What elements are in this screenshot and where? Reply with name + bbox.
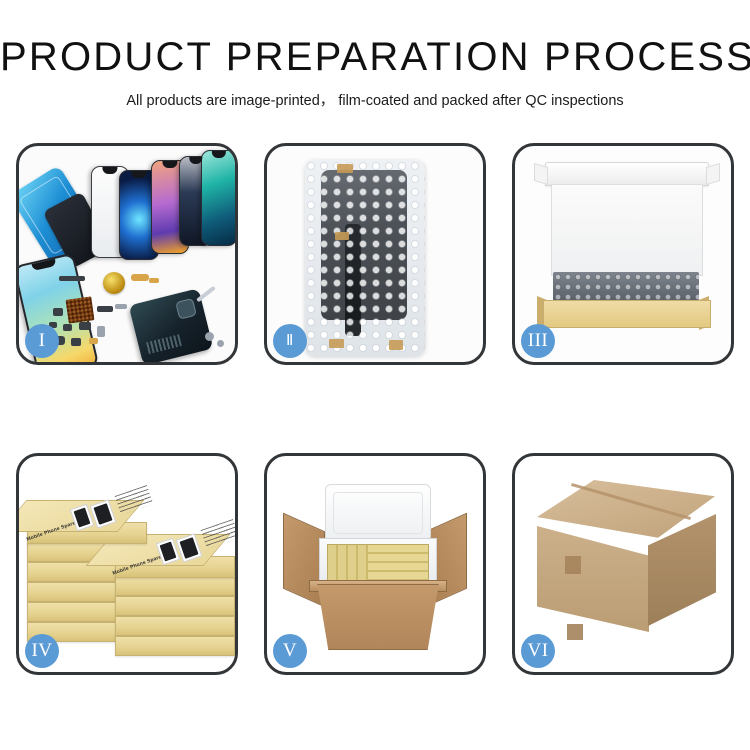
retail-box-r4 [115, 636, 235, 656]
step-badge-1: I [25, 324, 59, 358]
carton-front-panel [309, 584, 447, 650]
part-block-6 [71, 338, 81, 346]
carton-left-face [537, 526, 649, 632]
tape-piece-bottom-left [329, 339, 344, 348]
part-screw-2 [217, 340, 224, 347]
part-strip-1 [59, 276, 85, 281]
part-block-1 [53, 308, 63, 316]
part-block-2 [97, 306, 113, 312]
part-screw-1 [205, 332, 214, 341]
wrapped-screen-icon [321, 170, 407, 320]
inner-box-front-panel [543, 300, 711, 328]
tape-piece-bottom-right [389, 340, 403, 350]
retail-boxes-inside-icon [327, 544, 429, 584]
chip-grid-icon [65, 296, 94, 323]
process-steps-grid: I Ⅱ [16, 143, 734, 675]
tape-piece-top [337, 164, 353, 173]
part-flex-cable-2 [149, 278, 159, 283]
retail-box-r3 [115, 616, 235, 636]
retail-box-r2 [115, 596, 235, 616]
bubble-wrap-bag-icon [305, 160, 425, 356]
wrapped-flex-cable-icon [345, 224, 361, 336]
step-badge-6: VI [521, 634, 555, 668]
step-panel-4: Mobile Phone Spare Parts Mobile Phone Sp… [16, 453, 238, 675]
retail-box-stack: Mobile Phone Spare Parts Mobile Phone Sp… [27, 484, 233, 664]
step-badge-4: IV [25, 634, 59, 668]
product-preparation-infographic: PRODUCT PREPARATION PROCESS All products… [0, 0, 750, 750]
part-sim-tray [97, 326, 105, 337]
tape-piece-middle [335, 232, 349, 240]
step-panel-6: VI [512, 453, 734, 675]
carton-tape-upper [565, 556, 581, 574]
part-bracket-1 [115, 304, 127, 309]
inner-box-lid-icon [545, 162, 709, 186]
step-badge-5: V [273, 634, 307, 668]
phone-display-teal-icon [201, 150, 235, 246]
part-connector-1 [89, 338, 98, 344]
retail-box-text-lines-2 [201, 519, 235, 549]
camera-module-icon [103, 272, 125, 294]
part-block-5 [79, 322, 91, 330]
foam-box-lid-icon [325, 484, 431, 542]
bubble-wrapped-contents-icon [553, 272, 699, 302]
step-panel-3: III [512, 143, 734, 365]
page-title: PRODUCT PREPARATION PROCESS [0, 34, 750, 80]
retail-box-text-lines-1 [115, 485, 154, 515]
part-block-4 [63, 324, 72, 331]
header: PRODUCT PREPARATION PROCESS All products… [0, 34, 750, 111]
step-panel-1: I [16, 143, 238, 365]
retail-box-r1 [115, 576, 235, 596]
step-panel-2: Ⅱ [264, 143, 486, 365]
step-badge-3: III [521, 324, 555, 358]
step-panel-5: V [264, 453, 486, 675]
step-badge-2: Ⅱ [273, 324, 307, 358]
inner-box-back-wall [551, 184, 703, 276]
carton-tape-lower [567, 624, 583, 640]
part-flex-cable-1 [131, 274, 149, 281]
page-subtitle: All products are image-printed， film-coa… [0, 91, 750, 111]
